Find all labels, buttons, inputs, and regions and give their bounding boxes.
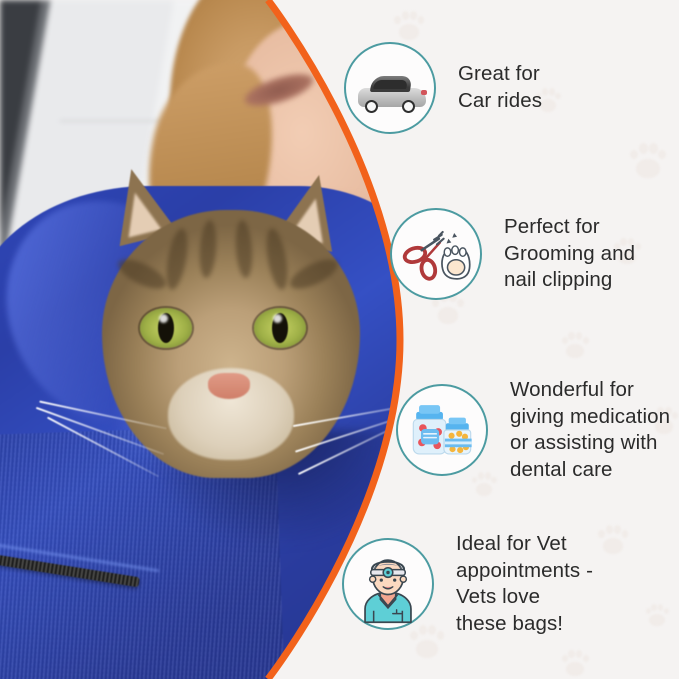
feature-label: Great for Car rides (458, 61, 542, 114)
feature-item-vet[interactable]: Ideal for Vet appointments - Vets love t… (342, 531, 593, 638)
infographic-canvas: Great for Car rides (0, 0, 679, 679)
feature-item-grooming[interactable]: Perfect for Grooming and nail clipping (390, 208, 635, 300)
feature-item-car-rides[interactable]: Great for Car rides (344, 42, 542, 134)
pill-bottles-icon (396, 384, 488, 476)
feature-label: Ideal for Vet appointments - Vets love t… (456, 531, 593, 638)
feature-label: Wonderful for giving medication or assis… (510, 377, 670, 484)
feature-label: Perfect for Grooming and nail clipping (504, 214, 635, 294)
feature-item-medication[interactable]: Wonderful for giving medication or assis… (396, 377, 670, 484)
veterinarian-icon (342, 538, 434, 630)
feature-list: Great for Car rides (0, 0, 679, 679)
nail-clipper-paw-icon (390, 208, 482, 300)
car-icon (344, 42, 436, 134)
